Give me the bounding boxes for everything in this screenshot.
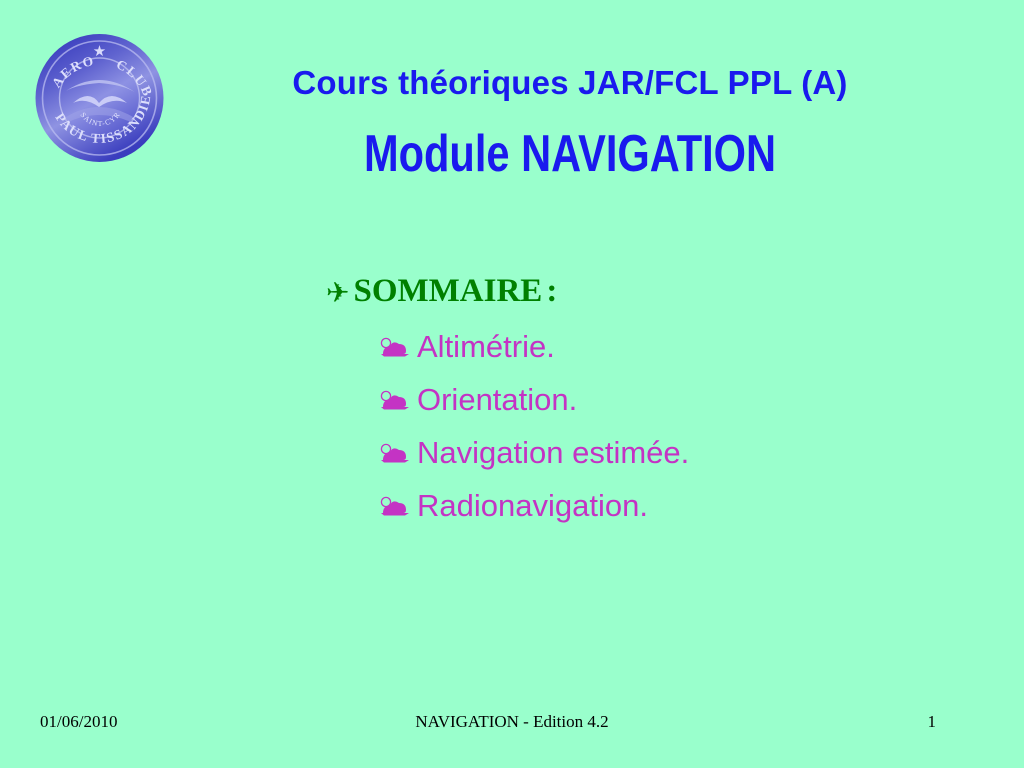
aero-club-logo: ★ AERO CLUB PAUL TISSANDIER SAINT-CYR [33,27,166,167]
list-item-label: Orientation. [417,382,577,418]
topic-list: Altimétrie. Orientation. [326,320,966,532]
list-item[interactable]: Radionavigation. [380,479,966,532]
sommaire-section: ✈ SOMMAIRE : Altimétrie. [326,272,966,532]
slide-footer: 01/06/2010 NAVIGATION - Edition 4.2 1 [0,711,1024,739]
footer-page-number: 1 [0,711,1024,733]
list-item[interactable]: Navigation estimée. [380,426,966,479]
slide-title-line-2: Module NAVIGATION [266,126,874,182]
sommaire-label: SOMMAIRE [353,272,542,310]
slide-canvas: ★ AERO CLUB PAUL TISSANDIER SAINT-CYR Co… [0,0,1024,768]
list-item-label: Radionavigation. [417,488,648,524]
star-icon: ★ [93,42,106,60]
cloud-icon [380,495,410,519]
cloud-icon [380,336,410,360]
sommaire-heading: ✈ SOMMAIRE : [326,272,966,311]
list-item[interactable]: Altimétrie. [380,320,966,373]
airplane-icon: ✈ [326,274,349,312]
list-item-label: Altimétrie. [417,329,555,365]
cloud-icon [380,389,410,413]
cloud-icon [380,442,410,466]
sommaire-colon: : [546,272,557,310]
list-item-label: Navigation estimée. [417,435,689,471]
list-item[interactable]: Orientation. [380,373,966,426]
slide-title-line-1: Cours théoriques JAR/FCL PPL (A) [190,64,950,102]
